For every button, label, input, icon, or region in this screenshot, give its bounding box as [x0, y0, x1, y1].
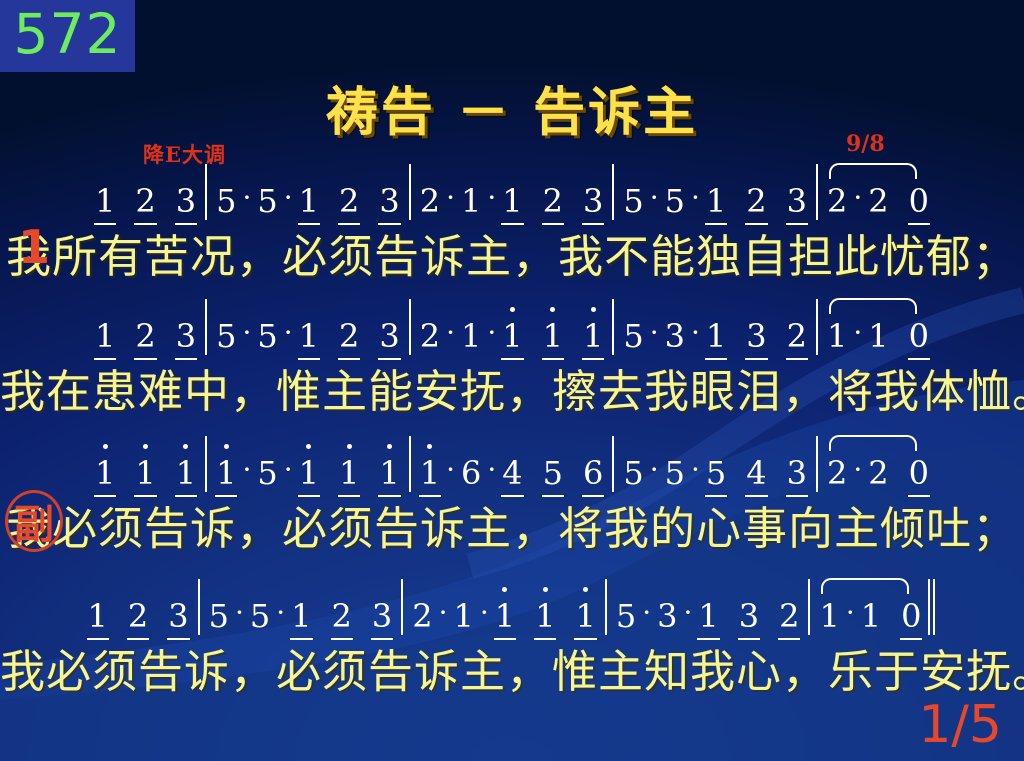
measure: 5·3·132 [614, 596, 802, 635]
note: 5 [541, 454, 565, 492]
note: 1 [174, 454, 198, 492]
note: 1 [817, 597, 841, 635]
duration-dot: · [638, 596, 655, 635]
barline [808, 579, 810, 635]
duration-dot: · [842, 596, 859, 635]
note: 1 [704, 182, 728, 220]
note: 4 [744, 454, 768, 492]
time-signature: 9/8 [846, 131, 885, 157]
duration-dot: · [687, 181, 704, 220]
tie-slur [829, 435, 917, 451]
duration-dot: · [442, 453, 459, 492]
notation-row: 1111·5·1111·6·4565·5·5432·20 [0, 440, 1024, 492]
note: 2 [866, 454, 890, 492]
notation-row: 1235·5·1232·1·1115·3·1321·10 [0, 583, 1024, 635]
note: 2 [410, 597, 434, 635]
note: 2 [785, 317, 809, 355]
lyrics-line: 我所有苦况，必须告诉主，我不能独自担此忧郁； [0, 220, 1024, 282]
note: 1 [418, 454, 442, 492]
note: 1 [133, 454, 157, 492]
note: 3 [174, 317, 198, 355]
note: 5 [214, 317, 238, 355]
note: 3 [174, 182, 198, 220]
notation-row: 1235·5·1232·1·1115·3·1321·10 [0, 303, 1024, 355]
duration-dot: · [849, 181, 866, 220]
note: 1 [696, 597, 720, 635]
note: 5 [621, 182, 645, 220]
note: 1 [452, 597, 476, 635]
barline [612, 436, 614, 492]
music-system: 1111·5·1111·6·4565·5·5432·20我必须告诉，必须告诉主，… [0, 440, 1024, 554]
music-system: 1235·5·1232·1·1115·3·1321·10我必须告诉，必须告诉主，… [0, 583, 1024, 697]
final-double-barline [928, 579, 938, 635]
barline [205, 436, 207, 492]
barline [409, 436, 411, 492]
note: 1 [704, 317, 728, 355]
note: 2 [126, 597, 150, 635]
duration-dot: · [687, 453, 704, 492]
note: 2 [866, 182, 890, 220]
note: 2 [541, 182, 565, 220]
note: 3 [377, 317, 401, 355]
note: 3 [744, 317, 768, 355]
note: 0 [907, 317, 931, 355]
measure: 1·10 [825, 316, 931, 355]
note: 0 [899, 597, 923, 635]
note: 3 [370, 597, 394, 635]
measure: 5·5·123 [214, 316, 402, 355]
note: 3 [663, 317, 687, 355]
barline [205, 164, 207, 220]
note: 1 [459, 182, 483, 220]
duration-dot: · [280, 316, 297, 355]
note: 2 [418, 182, 442, 220]
note: 3 [166, 597, 190, 635]
duration-dot: · [442, 181, 459, 220]
note: 1 [493, 597, 517, 635]
note: 5 [248, 597, 272, 635]
note: 5 [621, 454, 645, 492]
notation-row: 1235·5·1232·1·1235·5·1232·20 [0, 168, 1024, 220]
note: 2 [337, 317, 361, 355]
note: 2 [825, 182, 849, 220]
duration-dot: · [483, 181, 500, 220]
note: 1 [93, 454, 117, 492]
note: 1 [825, 317, 849, 355]
measure: 2·20 [825, 453, 931, 492]
note: 5 [663, 182, 687, 220]
note: 1 [541, 317, 565, 355]
note: 5 [207, 597, 231, 635]
measure: 123 [93, 317, 198, 355]
lyrics-line: 我必须告诉，必须告诉主，惟主知我心，乐于安抚。 [0, 635, 1024, 697]
duration-dot: · [442, 316, 459, 355]
key-signature: 降E大调 [143, 139, 226, 169]
music-system: 1235·5·1232·1·1115·3·1321·10我在患难中，惟主能安抚，… [0, 303, 1024, 417]
note: 1 [297, 317, 321, 355]
chorus-marker: 副 [5, 490, 63, 552]
note: 6 [459, 454, 483, 492]
tie-slur [829, 163, 917, 179]
measure: 5·3·132 [621, 316, 809, 355]
note: 5 [621, 317, 645, 355]
measure: 1·6·456 [418, 453, 606, 492]
duration-dot: · [238, 453, 255, 492]
duration-dot: · [483, 316, 500, 355]
note: 1 [214, 454, 238, 492]
measure: 5·5·123 [621, 181, 809, 220]
barline [409, 164, 411, 220]
duration-dot: · [646, 181, 663, 220]
note: 1 [289, 597, 313, 635]
song-number: 572 [14, 7, 122, 66]
note: 1 [500, 317, 524, 355]
music-system: 1235·5·1232·1·1235·5·1232·20我所有苦况，必须告诉主，… [0, 168, 1024, 282]
duration-dot: · [646, 453, 663, 492]
page-indicator: 1/5 [918, 695, 1002, 755]
note: 3 [785, 454, 809, 492]
measure: 123 [86, 597, 191, 635]
note: 5 [255, 454, 279, 492]
duration-dot: · [280, 453, 297, 492]
note: 2 [133, 182, 157, 220]
duration-dot: · [483, 453, 500, 492]
note: 1 [93, 182, 117, 220]
verse-number-marker: 1 [18, 220, 50, 274]
song-number-badge: 572 [0, 0, 135, 72]
note: 1 [86, 597, 110, 635]
note: 1 [297, 182, 321, 220]
duration-dot: · [231, 596, 248, 635]
note: 1 [533, 597, 557, 635]
note: 2 [777, 597, 801, 635]
duration-dot: · [476, 596, 493, 635]
duration-dot: · [238, 181, 255, 220]
measure: 111 [93, 454, 198, 492]
barline [205, 299, 207, 355]
duration-dot: · [435, 596, 452, 635]
note: 1 [297, 454, 321, 492]
note: 3 [785, 182, 809, 220]
note: 5 [663, 454, 687, 492]
barline [605, 579, 607, 635]
duration-dot: · [687, 316, 704, 355]
tie-slur [829, 298, 917, 314]
measure: 5·5·123 [214, 181, 402, 220]
note: 5 [614, 597, 638, 635]
note: 1 [93, 317, 117, 355]
barline [816, 164, 818, 220]
note: 5 [255, 317, 279, 355]
barline [612, 299, 614, 355]
note: 3 [737, 597, 761, 635]
note: 5 [255, 182, 279, 220]
barline [612, 164, 614, 220]
measure: 2·20 [825, 181, 931, 220]
barline [198, 579, 200, 635]
note: 1 [581, 317, 605, 355]
measure: 5·5·543 [621, 453, 809, 492]
measure: 2·1·111 [418, 316, 606, 355]
measure: 5·5·123 [207, 596, 395, 635]
note: 6 [581, 454, 605, 492]
note: 2 [825, 454, 849, 492]
note: 5 [704, 454, 728, 492]
note: 1 [377, 454, 401, 492]
barline [401, 579, 403, 635]
note: 3 [581, 182, 605, 220]
duration-dot: · [679, 596, 696, 635]
measure: 123 [93, 182, 198, 220]
tie-slur [821, 578, 909, 594]
lyrics-line: 我必须告诉，必须告诉主，将我的心事向主倾吐； [0, 492, 1024, 554]
note: 1 [573, 597, 597, 635]
duration-dot: · [280, 181, 297, 220]
note: 0 [907, 454, 931, 492]
note: 0 [907, 182, 931, 220]
note: 2 [133, 317, 157, 355]
measure: 1·10 [817, 596, 923, 635]
duration-dot: · [272, 596, 289, 635]
note: 5 [214, 182, 238, 220]
note: 3 [655, 597, 679, 635]
barline [409, 299, 411, 355]
barline [816, 299, 818, 355]
measure: 1·5·111 [214, 453, 402, 492]
note: 2 [330, 597, 354, 635]
hymn-slide: 572 祷告 － 告诉主 降E大调 9/8 1235·5·1232·1·1235… [0, 0, 1024, 761]
barline [816, 436, 818, 492]
duration-dot: · [849, 316, 866, 355]
measure: 2·1·123 [418, 181, 606, 220]
note: 2 [418, 317, 442, 355]
note: 1 [337, 454, 361, 492]
measure: 2·1·111 [410, 596, 598, 635]
note: 1 [500, 182, 524, 220]
note: 1 [866, 317, 890, 355]
lyrics-line: 我在患难中，惟主能安抚，擦去我眼泪，将我体恤。 [0, 355, 1024, 417]
note: 2 [337, 182, 361, 220]
duration-dot: · [849, 453, 866, 492]
note: 1 [459, 317, 483, 355]
duration-dot: · [238, 316, 255, 355]
note: 3 [377, 182, 401, 220]
note: 2 [744, 182, 768, 220]
duration-dot: · [646, 316, 663, 355]
note: 1 [859, 597, 883, 635]
note: 4 [500, 454, 524, 492]
